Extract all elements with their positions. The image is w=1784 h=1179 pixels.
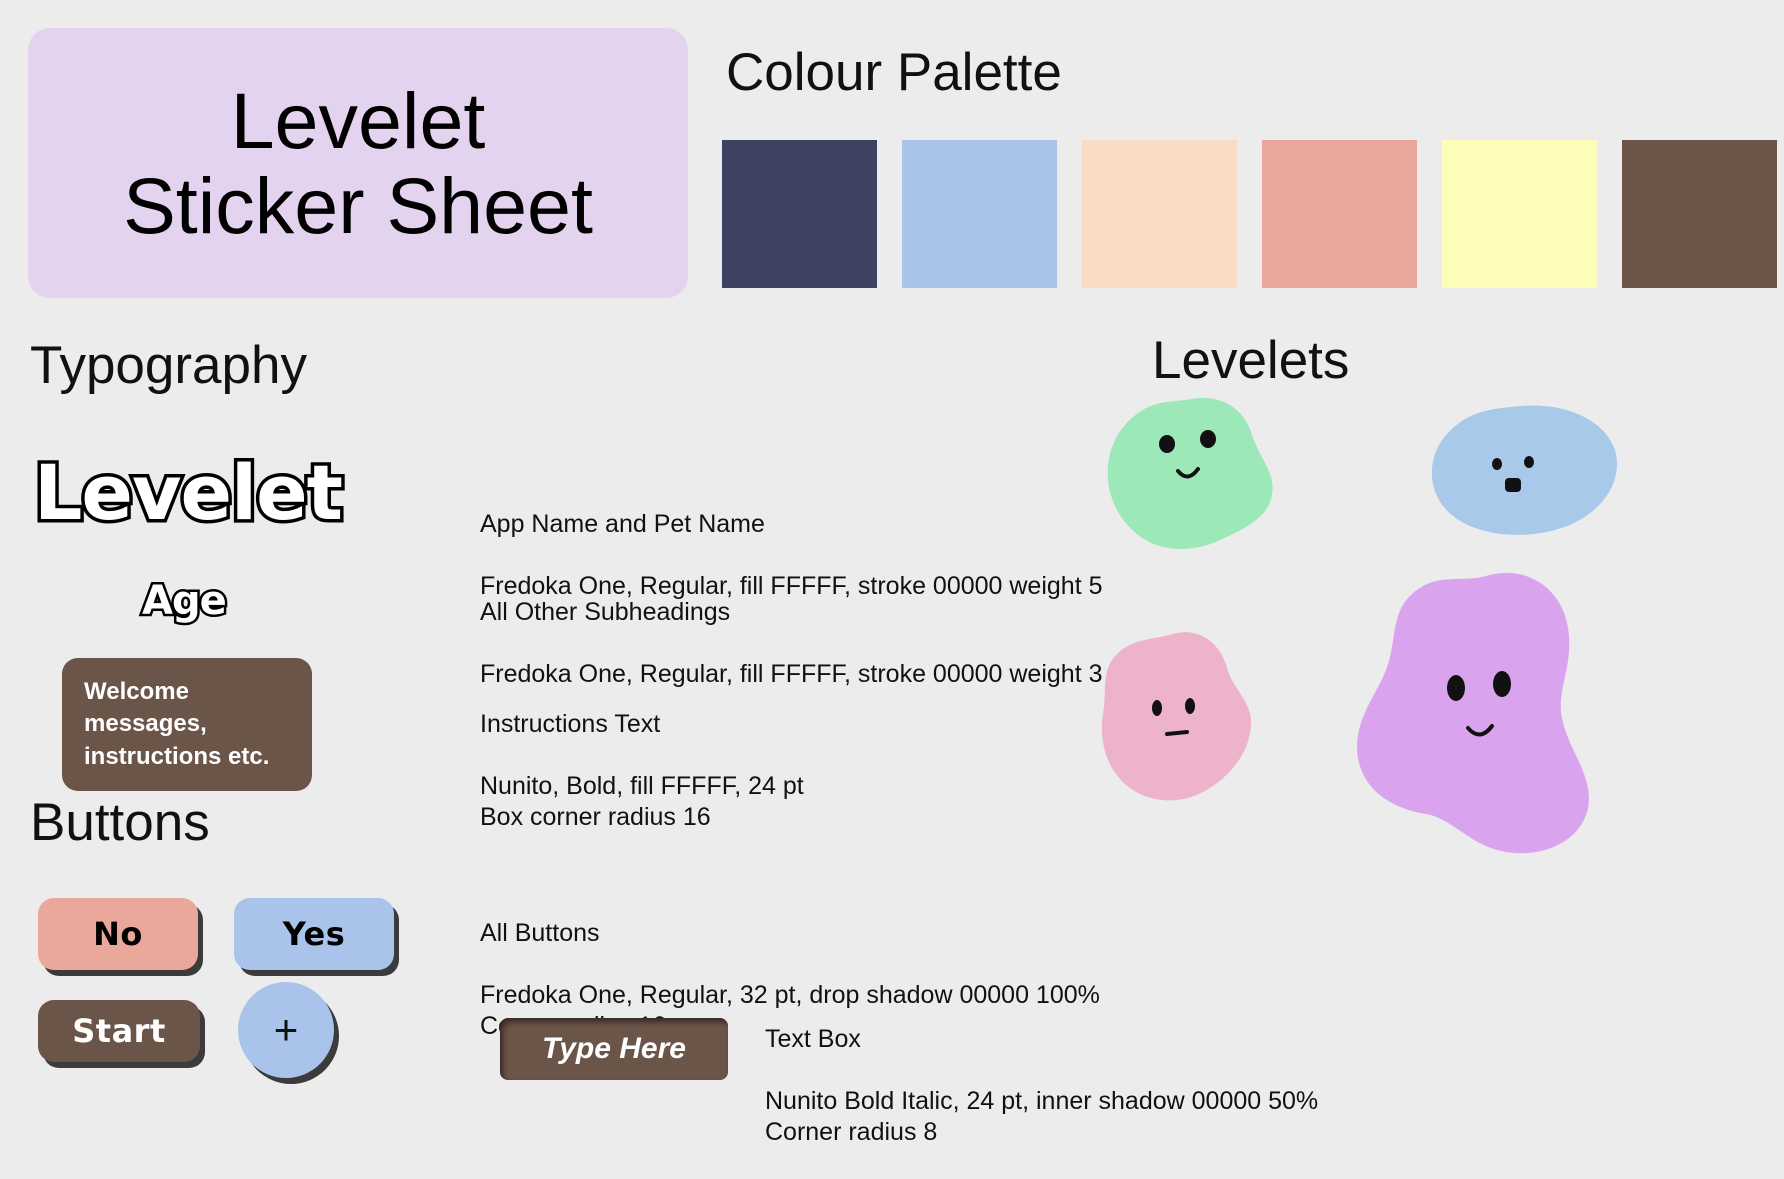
sticker-sheet-title-card: Levelet Sticker Sheet [28, 28, 688, 298]
colour-palette-row [722, 140, 1777, 288]
eye-left [1152, 700, 1162, 716]
annotation-text-box-detail: Nunito Bold Italic, 24 pt, inner shadow … [765, 1086, 1318, 1148]
section-heading-typography: Typography [30, 335, 307, 396]
annotation-instructions-text: Instructions Text Nunito, Bold, fill FFF… [480, 678, 804, 864]
annotation-instructions-title: Instructions Text [480, 709, 804, 740]
logo-type-sample: Levelet [34, 448, 342, 537]
eye-right [1185, 698, 1195, 714]
yes-button[interactable]: Yes [234, 898, 394, 970]
swatch-salmon [1262, 140, 1417, 288]
swatch-brown [1622, 140, 1777, 288]
eye-right [1200, 430, 1216, 448]
annotation-all-buttons-title: All Buttons [480, 918, 1100, 949]
start-button[interactable]: Start [38, 1000, 200, 1062]
annotation-subheadings-title: All Other Subheadings [480, 597, 1103, 628]
swatch-light-blue [902, 140, 1057, 288]
annotation-app-name-title: App Name and Pet Name [480, 509, 1103, 540]
pink-levelet [1095, 630, 1265, 810]
swatch-navy [722, 140, 877, 288]
instructions-text-box-sample: Welcome messages, instructions etc. [62, 658, 312, 791]
title-line-2: Sticker Sheet [123, 163, 593, 248]
annotation-instructions-detail: Nunito, Bold, fill FFFFF, 24 pt Box corn… [480, 771, 804, 833]
swatch-peach [1082, 140, 1237, 288]
purple-levelet [1350, 570, 1600, 860]
plus-icon-button[interactable]: + [238, 982, 334, 1078]
subheading-type-sample: Age [142, 578, 226, 624]
section-heading-levelets: Levelets [1152, 330, 1349, 391]
no-button[interactable]: No [38, 898, 198, 970]
swatch-pale-yellow [1442, 140, 1597, 288]
eye-right [1493, 671, 1511, 697]
blue-levelet [1425, 402, 1625, 542]
eye-left [1492, 458, 1502, 470]
eye-right [1524, 456, 1534, 468]
eye-left [1447, 675, 1465, 701]
section-heading-colour-palette: Colour Palette [726, 42, 1062, 103]
green-levelet [1100, 395, 1280, 555]
mouth-neutral [1167, 732, 1187, 734]
title-line-1: Levelet [231, 78, 486, 163]
annotation-text-box-title: Text Box [765, 1024, 1318, 1055]
annotation-text-box: Text Box Nunito Bold Italic, 24 pt, inne… [765, 993, 1318, 1179]
section-heading-buttons: Buttons [30, 792, 210, 853]
eye-left [1159, 435, 1175, 453]
levelets-gallery [1150, 430, 1770, 960]
text-box-sample[interactable]: Type Here [500, 1018, 728, 1080]
mouth-open [1505, 478, 1521, 492]
